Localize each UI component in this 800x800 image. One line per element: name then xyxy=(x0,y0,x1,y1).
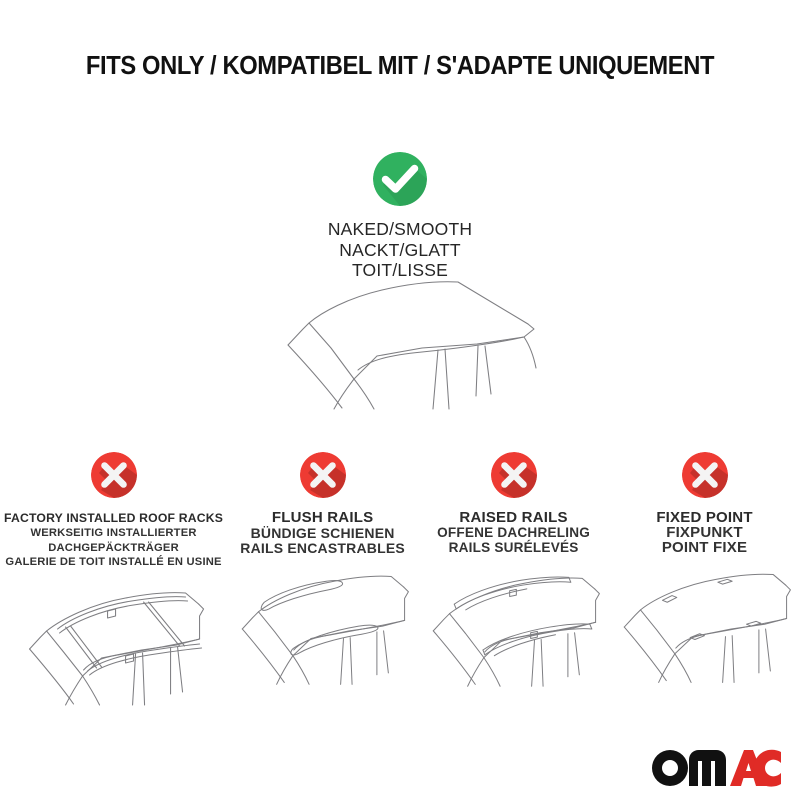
rejected-item-raised-rails: RAISED RAILS OFFENE DACHRELING RAILS SUR… xyxy=(418,452,609,696)
approved-label-en: NAKED/SMOOTH xyxy=(0,219,800,240)
rejected-label-de-1: OFFENE DACHRELING xyxy=(422,526,605,541)
naked-smooth-roof-illustration xyxy=(262,276,562,416)
raised-rails-illustration xyxy=(418,561,609,696)
fixed-point-illustration xyxy=(609,561,800,696)
rejected-labels: FIXED POINT FIXPUNKT POINT FIXE xyxy=(609,510,800,555)
rejected-labels: FACTORY INSTALLED ROOF RACKS WERKSEITIG … xyxy=(0,510,227,570)
x-circle-icon xyxy=(91,452,137,498)
rejected-label-fr: GALERIE DE TOIT INSTALLÉ EN USINE xyxy=(4,555,223,570)
approved-section: NAKED/SMOOTH NACKT/GLATT TOIT/LISSE xyxy=(0,152,800,281)
x-circle-icon xyxy=(300,452,346,498)
check-circle-icon xyxy=(373,152,427,206)
rejected-label-en: FLUSH RAILS xyxy=(231,510,414,526)
logo-letter-o xyxy=(652,750,688,786)
rejected-item-factory-roof-racks: FACTORY INSTALLED ROOF RACKS WERKSEITIG … xyxy=(0,452,227,711)
rejected-item-fixed-point: FIXED POINT FIXPUNKT POINT FIXE xyxy=(609,452,800,696)
rejected-item-flush-rails: FLUSH RAILS BÜNDIGE SCHIENEN RAILS ENCAS… xyxy=(227,452,418,696)
logo-letter-m xyxy=(689,750,726,786)
factory-roof-rack-illustration xyxy=(0,576,227,711)
rejected-label-de-1: WERKSEITIG INSTALLIERTER xyxy=(4,526,223,541)
page-title: FITS ONLY / KOMPATIBEL MIT / S'ADAPTE UN… xyxy=(28,52,772,81)
rejected-label-de-1: BÜNDIGE SCHIENEN xyxy=(231,526,414,541)
rejected-label-fr: RAILS ENCASTRABLES xyxy=(231,541,414,556)
omac-logo xyxy=(652,748,782,788)
approved-label-de: NACKT/GLATT xyxy=(0,240,800,261)
rejected-labels: RAISED RAILS OFFENE DACHRELING RAILS SUR… xyxy=(418,510,609,555)
approved-labels: NAKED/SMOOTH NACKT/GLATT TOIT/LISSE xyxy=(0,219,800,281)
x-circle-icon xyxy=(491,452,537,498)
x-circle-icon xyxy=(682,452,728,498)
rejected-label-fr: POINT FIXE xyxy=(613,541,796,556)
rejected-label-en: FACTORY INSTALLED ROOF RACKS xyxy=(4,510,223,526)
rejected-label-fr: RAILS SURÉLEVÉS xyxy=(422,541,605,556)
rejected-label-de-2: DACHGEPÄCKTRÄGER xyxy=(4,541,223,556)
rejected-section: FACTORY INSTALLED ROOF RACKS WERKSEITIG … xyxy=(0,452,800,711)
flush-rails-illustration xyxy=(227,561,418,696)
rejected-labels: FLUSH RAILS BÜNDIGE SCHIENEN RAILS ENCAS… xyxy=(227,510,418,555)
rejected-label-en: RAISED RAILS xyxy=(422,510,605,526)
